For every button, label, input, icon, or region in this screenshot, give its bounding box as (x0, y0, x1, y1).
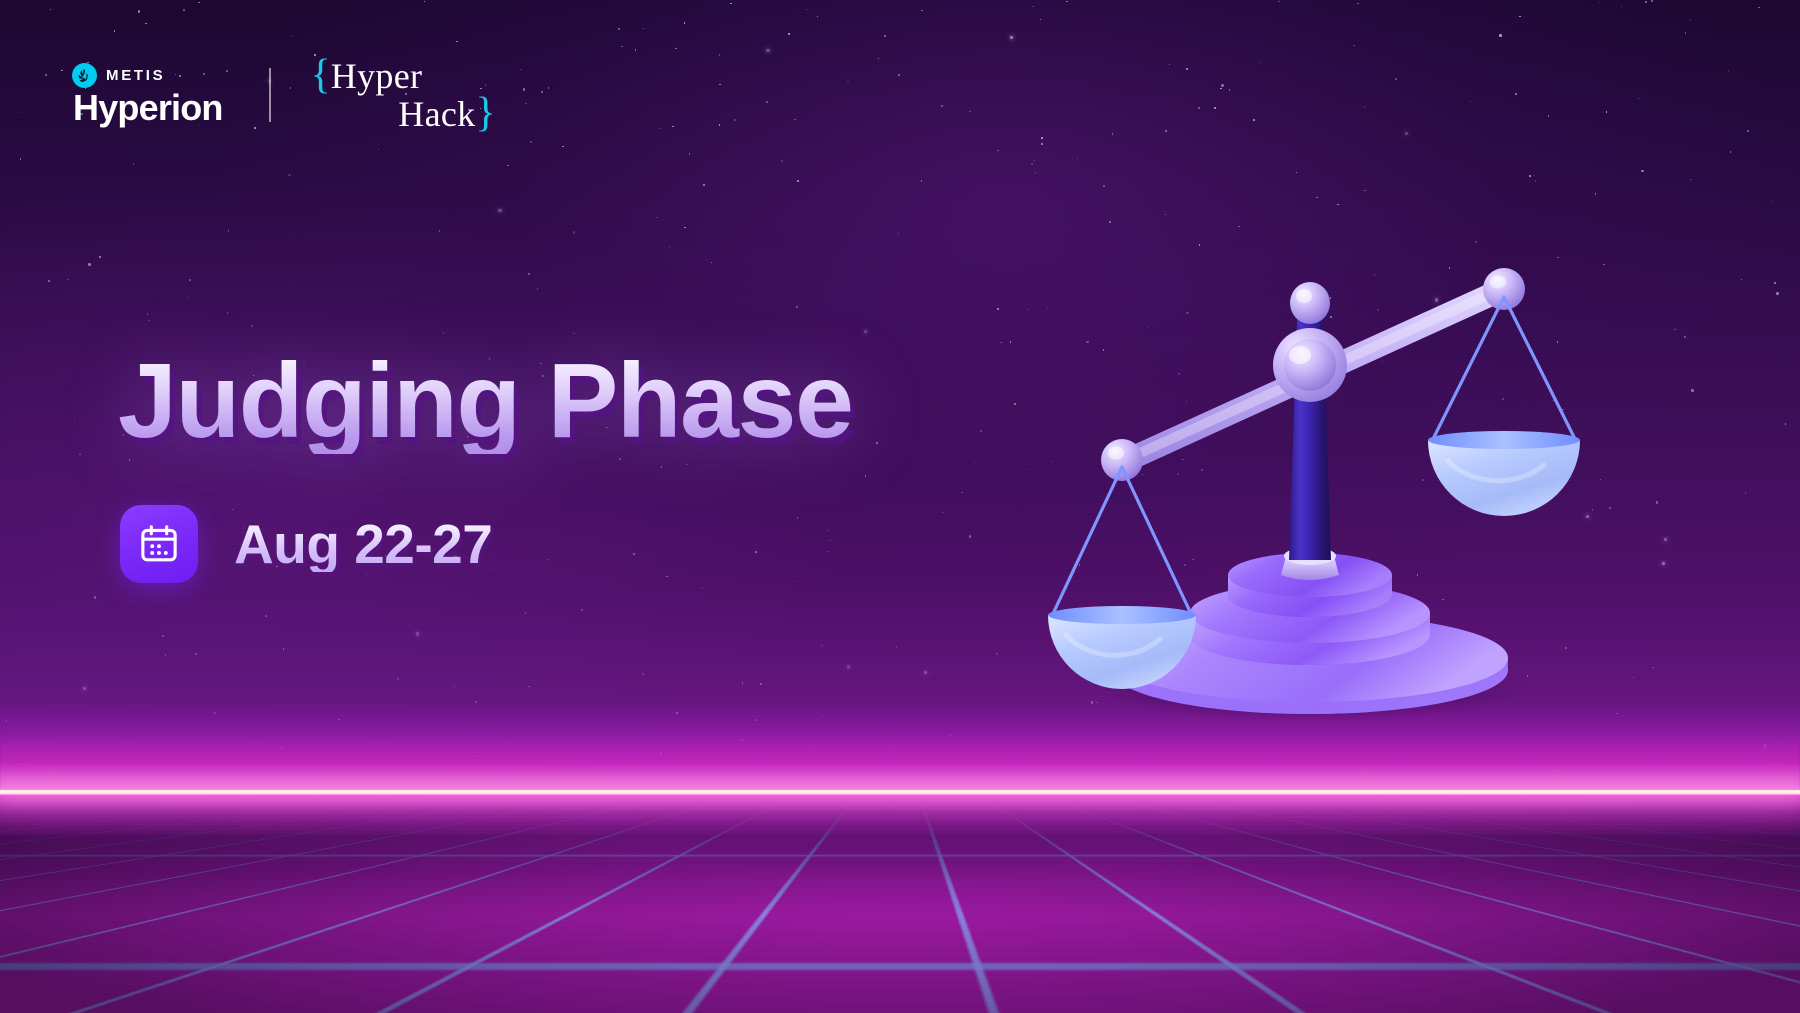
hyperhack-logo[interactable]: { Hyper Hack } (311, 57, 496, 133)
horizon-line (0, 790, 1800, 795)
brand-header: METIS Hyperion { Hyper Hack } (72, 57, 496, 133)
date-label: Aug 22-27 (234, 517, 492, 572)
close-brace-icon: } (475, 95, 495, 133)
date-badge: Aug 22-27 (120, 505, 492, 583)
judging-phase-banner: METIS Hyperion { Hyper Hack } Judging Ph… (0, 0, 1800, 1013)
calendar-icon (120, 505, 198, 583)
hyperhack-line-1: { Hyper (311, 57, 496, 95)
metis-hyperion-logo[interactable]: METIS Hyperion (72, 63, 223, 127)
metis-logo-icon (72, 63, 97, 88)
hyperhack-line-2: Hack } (311, 95, 496, 133)
open-brace-icon: { (311, 57, 331, 95)
page-title: Judging Phase (118, 348, 852, 454)
balance-scales-icon (1060, 215, 1580, 775)
horizon-underglow (0, 795, 1800, 835)
metis-eyebrow-label: METIS (106, 68, 165, 83)
hyperhack-word-hack: Hack (398, 98, 475, 131)
hyperhack-word-hyper: Hyper (331, 60, 422, 93)
vertical-divider (269, 68, 271, 122)
metis-lockup: METIS (72, 63, 165, 88)
hyperion-wordmark: Hyperion (73, 89, 223, 127)
